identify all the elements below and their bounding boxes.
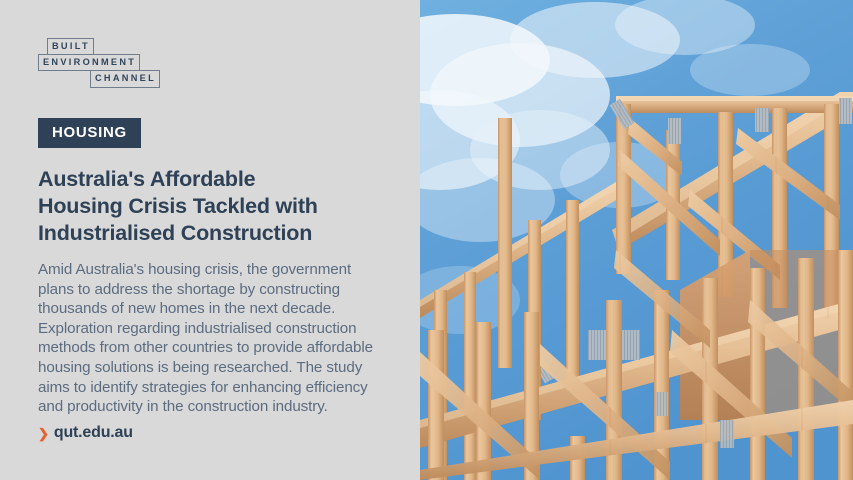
- website-url-label: qut.edu.au: [54, 425, 133, 441]
- chevron-right-icon: ❯: [38, 427, 49, 440]
- article-promo-card: BUILT ENVIRONMENT CHANNEL HOUSING Austra…: [0, 0, 853, 480]
- logo-line-channel: CHANNEL: [90, 70, 160, 87]
- article-headline: Australia's Affordable Housing Crisis Ta…: [38, 166, 338, 247]
- framing-illustration: [420, 0, 853, 480]
- category-badge[interactable]: HOUSING: [38, 118, 141, 148]
- logo-line-environment: ENVIRONMENT: [38, 54, 140, 71]
- brand-logo[interactable]: BUILT ENVIRONMENT CHANNEL: [38, 38, 160, 88]
- text-panel: BUILT ENVIRONMENT CHANNEL HOUSING Austra…: [0, 0, 420, 480]
- article-summary: Amid Australia's housing crisis, the gov…: [38, 260, 383, 417]
- construction-framing-photo: [420, 0, 853, 480]
- website-link[interactable]: ❯ qut.edu.au: [38, 425, 133, 441]
- logo-line-built: BUILT: [47, 38, 94, 55]
